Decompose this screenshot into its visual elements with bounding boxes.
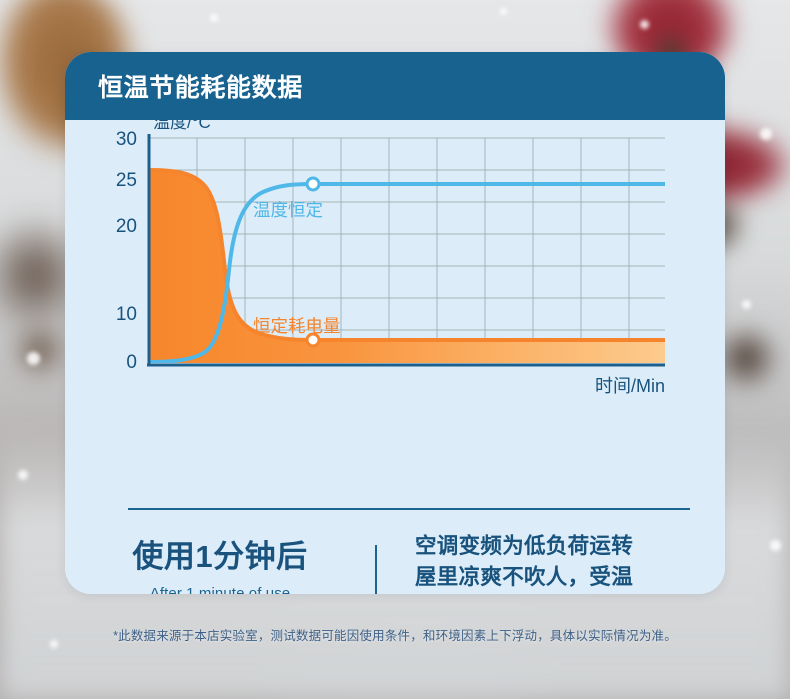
snowflake: [27, 352, 40, 365]
footnote-disclaimer: *此数据来源于本店实验室，测试数据可能因使用条件，和环境因素上下浮动，具体以实际…: [0, 625, 790, 644]
y-tick-0: 0: [126, 352, 137, 373]
summary-section: 使用1分钟后 After 1 minute of use 空调变频为低负荷运转 …: [65, 525, 725, 594]
summary-line-1: 空调变频为低负荷运转: [415, 531, 725, 562]
summary-line-2: 屋里凉爽不吹人，受温: [415, 562, 725, 593]
snowflake: [640, 20, 649, 29]
summary-line-3: 均匀，节约45%电量: [415, 592, 725, 594]
summary-right: 空调变频为低负荷运转 屋里凉爽不吹人，受温 均匀，节约45%电量: [375, 525, 725, 594]
snowflake: [760, 128, 772, 140]
y-tick-20: 20: [116, 216, 137, 237]
card-header: 恒温节能耗能数据: [65, 52, 725, 120]
summary-headline-en: After 1 minute of use: [65, 585, 375, 594]
snowflake: [770, 540, 781, 551]
y-tick-25: 25: [116, 170, 137, 191]
summary-left: 使用1分钟后 After 1 minute of use: [65, 525, 375, 594]
summary-headline-cn: 使用1分钟后: [65, 539, 375, 575]
snowflake: [18, 470, 28, 480]
chart-svg: 30 25 20 10 0 温度/°C 时间/Min 温度恒定 恒定耗电量: [65, 120, 725, 420]
y-tick-10: 10: [116, 304, 137, 325]
info-card: 恒温节能耗能数据: [65, 52, 725, 594]
annotation-constant-power: 恒定耗电量: [253, 316, 341, 336]
snowflake: [742, 300, 751, 309]
y-tick-30: 30: [116, 129, 137, 150]
section-divider-horizontal: [128, 508, 690, 510]
temperature-marker-point: [307, 178, 319, 190]
annotation-temperature-stable: 温度恒定: [253, 200, 323, 220]
page-title: 恒温节能耗能数据: [98, 68, 303, 104]
chart-x-axis-label: 时间/Min: [595, 376, 665, 396]
snowflake: [500, 8, 507, 15]
chart-y-axis-label: 温度/°C: [153, 120, 211, 132]
card-body: 30 25 20 10 0 温度/°C 时间/Min 温度恒定 恒定耗电量 使用…: [65, 120, 725, 594]
background-dark-spot-5: [10, 320, 70, 380]
snowflake: [210, 14, 218, 22]
energy-chart: 30 25 20 10 0 温度/°C 时间/Min 温度恒定 恒定耗电量: [65, 120, 725, 420]
chart-y-tick-labels: 30 25 20 10 0: [116, 129, 137, 373]
